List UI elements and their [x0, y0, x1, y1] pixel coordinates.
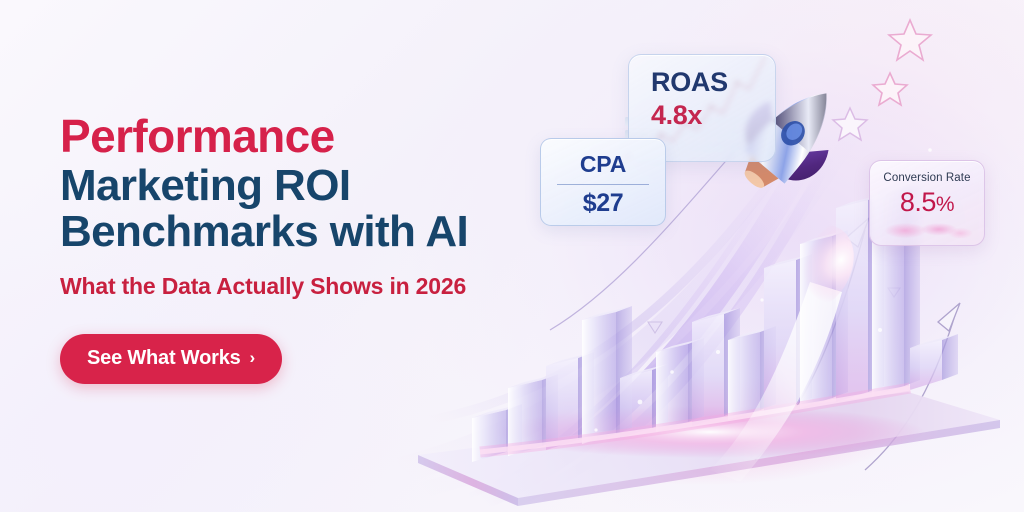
roas-value: 4.8x [651, 100, 702, 131]
star-icon [873, 73, 907, 105]
cpa-value: $27 [541, 189, 665, 218]
cta-label: See What Works [87, 347, 241, 370]
conversion-rate-value: 8.5% [870, 187, 984, 218]
copy-block: Performance Marketing ROI Benchmarks wit… [60, 112, 530, 384]
page-title: Performance Marketing ROI Benchmarks wit… [60, 112, 530, 256]
chevron-right-icon: › [250, 349, 255, 366]
metric-card-cpa[interactable]: CPA $27 [540, 138, 666, 226]
headline-line-1: Performance [60, 112, 530, 161]
see-what-works-button[interactable]: See What Works › [60, 334, 282, 384]
star-icon [889, 20, 931, 60]
headline-line-2: Marketing ROI [60, 163, 530, 210]
cpa-label: CPA [541, 151, 665, 178]
roas-label: ROAS [651, 67, 728, 98]
headline-line-3: Benchmarks with AI [60, 209, 530, 256]
percent-sign: % [936, 193, 954, 216]
divider [557, 184, 649, 185]
card-gradient-blob [878, 215, 976, 241]
conversion-rate-label: Conversion Rate [870, 172, 984, 184]
marketing-banner: Performance Marketing ROI Benchmarks wit… [0, 0, 1024, 512]
subheadline: What the Data Actually Shows in 2026 [60, 273, 530, 300]
conversion-rate-number: 8.5 [900, 187, 936, 217]
metric-card-conversion-rate[interactable]: Conversion Rate 8.5% [869, 160, 985, 246]
